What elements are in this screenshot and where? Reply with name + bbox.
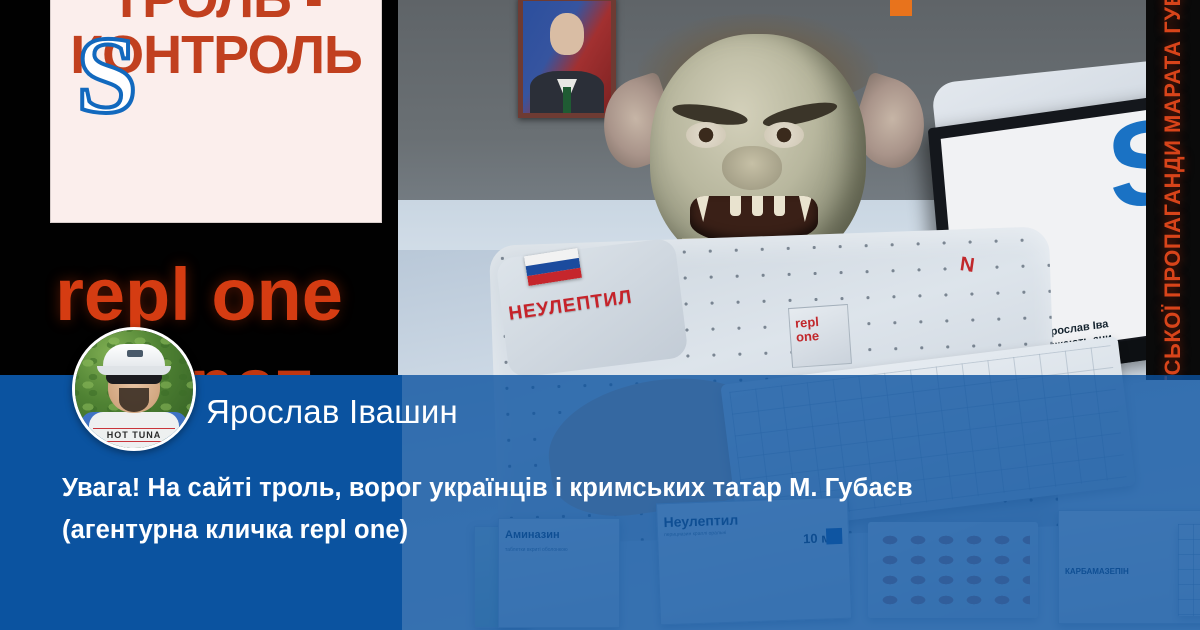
troll-fang-right xyxy=(799,196,812,222)
avatar[interactable]: HOT TUNA xyxy=(72,327,196,451)
avatar-cap xyxy=(103,344,165,370)
share-card: ТРОЛЬ - КОНТРОЛЬ repl one Марат Губаєв S xyxy=(0,0,1200,630)
repl-one-headline-text: repl one xyxy=(0,255,398,335)
author-name: Ярослав Івашин xyxy=(206,392,458,432)
troll-fang-left xyxy=(696,196,709,222)
headline-line-1: Увага! На сайті троль, ворог українців і… xyxy=(62,474,913,502)
troll-tooth xyxy=(752,196,763,216)
s-logo-letter: S xyxy=(76,22,137,132)
avatar-tshirt-text: HOT TUNA xyxy=(93,428,175,442)
avatar-cap-logo xyxy=(127,350,143,357)
s-logo-icon: S xyxy=(62,22,152,132)
avatar-beard xyxy=(119,388,149,412)
portrait-tie xyxy=(563,87,571,113)
troll-eye-right xyxy=(764,122,804,148)
troll-nose xyxy=(722,146,782,190)
troll-tooth xyxy=(774,196,785,216)
headline: Увага! На сайті троль, ворог українців і… xyxy=(62,467,1152,551)
troll-tooth xyxy=(730,196,741,216)
portrait-head xyxy=(550,13,584,55)
troll-eye-left xyxy=(686,122,726,148)
pocket-badge-line-2: one xyxy=(796,329,820,345)
orange-accent-mark xyxy=(890,0,912,16)
headline-line-2: (агентурна кличка repl one) xyxy=(62,509,1152,551)
vertical-propaganda-strip: ИСТСЬКОЇ ПРОПАГАНДИ МАРАТА ГУБАЄ xyxy=(1146,0,1200,380)
vertical-strip-text: ИСТСЬКОЇ ПРОПАГАНДИ МАРАТА ГУБАЄ xyxy=(1160,0,1186,380)
repl-one-pocket-badge: repl one xyxy=(788,304,852,368)
